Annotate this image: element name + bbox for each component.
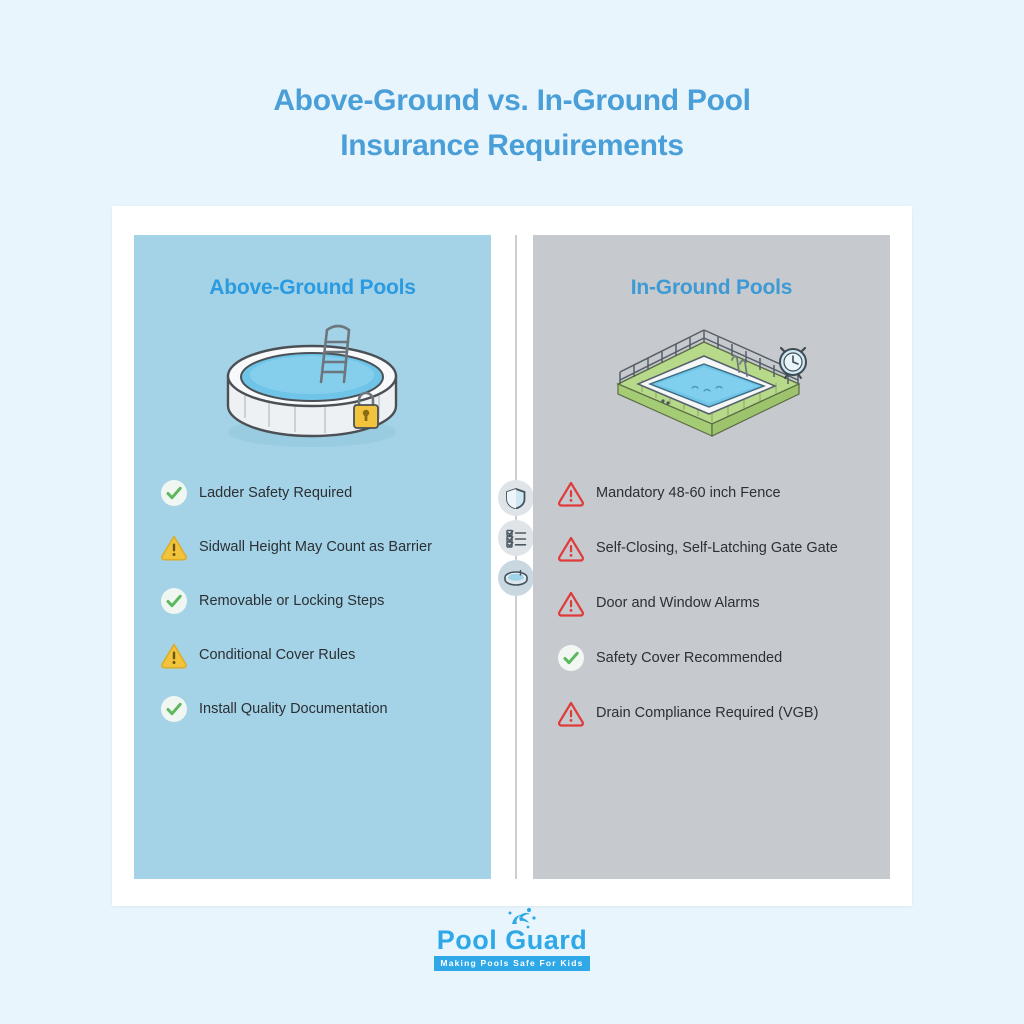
column-above-ground: Above-Ground Pools <box>134 235 491 879</box>
page-title: Above-Ground vs. In-Ground Pool Insuranc… <box>0 78 1024 168</box>
feature-list-above-ground: Ladder Safety Required Sidwall Height Ma… <box>134 482 491 726</box>
feature-item: Door and Window Alarms <box>557 592 870 620</box>
warning-triangle-icon <box>160 533 188 561</box>
feature-label: Self-Closing, Self-Latching Gate Gate <box>596 537 838 559</box>
divider-icon-group <box>498 480 534 600</box>
feature-item: Install Quality Documentation <box>160 698 471 726</box>
alert-triangle-icon <box>557 699 585 727</box>
in-ground-pool-illustration <box>533 314 890 464</box>
above-ground-pool-illustration <box>134 314 491 464</box>
feature-item: Sidwall Height May Count as Barrier <box>160 536 471 564</box>
warning-triangle-icon <box>160 641 188 669</box>
feature-item: Drain Compliance Required (VGB) <box>557 702 870 730</box>
column-heading-in-ground: In-Ground Pools <box>533 276 890 300</box>
feature-item: Safety Cover Recommended <box>557 647 870 675</box>
feature-label: Sidwall Height May Count as Barrier <box>199 536 432 558</box>
check-circle-icon <box>160 695 188 723</box>
feature-item: Self-Closing, Self-Latching Gate Gate <box>557 537 870 565</box>
comparison-card: Above-Ground Pools <box>112 206 912 906</box>
feature-label: Removable or Locking Steps <box>199 590 384 612</box>
check-circle-icon <box>557 644 585 672</box>
shield-icon <box>498 480 534 516</box>
feature-item: Removable or Locking Steps <box>160 590 471 618</box>
page-title-line-1: Above-Ground vs. In-Ground Pool <box>273 84 750 117</box>
column-in-ground: In-Ground Pools <box>533 235 890 879</box>
feature-item: Mandatory 48-60 inch Fence <box>557 482 870 510</box>
feature-label: Safety Cover Recommended <box>596 647 782 669</box>
brand-logo[interactable]: Pool Guard Making Pools Safe For Kids <box>0 925 1024 971</box>
pool-icon <box>498 560 534 596</box>
alert-triangle-icon <box>557 479 585 507</box>
water-splash-icon <box>498 907 538 933</box>
feature-label: Conditional Cover Rules <box>199 644 355 666</box>
feature-item: Conditional Cover Rules <box>160 644 471 672</box>
logo-tagline: Making Pools Safe For Kids <box>434 956 589 971</box>
column-heading-above-ground: Above-Ground Pools <box>134 276 491 300</box>
alert-triangle-icon <box>557 589 585 617</box>
feature-item: Ladder Safety Required <box>160 482 471 510</box>
logo-word-pool: Pool <box>437 925 498 955</box>
check-circle-icon <box>160 479 188 507</box>
check-circle-icon <box>160 587 188 615</box>
alert-triangle-icon <box>557 534 585 562</box>
feature-label: Ladder Safety Required <box>199 482 352 504</box>
feature-label: Mandatory 48-60 inch Fence <box>596 482 781 504</box>
feature-label: Install Quality Documentation <box>199 698 388 720</box>
checklist-icon <box>498 520 534 556</box>
feature-list-in-ground: Mandatory 48-60 inch Fence Self-Closing,… <box>533 482 890 730</box>
feature-label: Door and Window Alarms <box>596 592 760 614</box>
feature-label: Drain Compliance Required (VGB) <box>596 702 818 724</box>
page-title-line-2: Insurance Requirements <box>0 123 1024 168</box>
